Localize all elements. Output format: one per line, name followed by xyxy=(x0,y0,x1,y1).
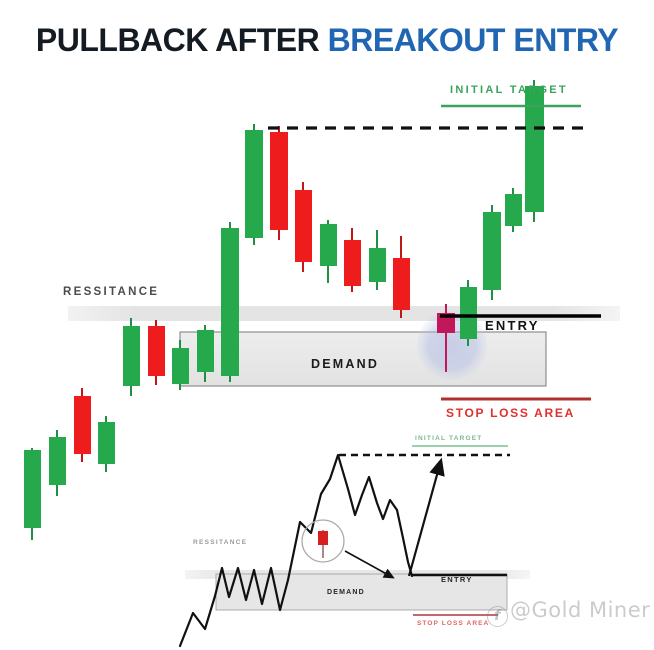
schematic-label-demand: DEMAND xyxy=(327,589,365,596)
infographic-canvas: PULLBACK AFTER BREAKOUT ENTRY xyxy=(0,0,654,650)
schematic-circled-candle-body xyxy=(318,531,328,545)
schematic-label-entry: ENTRY xyxy=(441,575,473,584)
schematic-label-ressitance: RESSITANCE xyxy=(193,539,247,546)
schematic-diagram xyxy=(0,0,654,650)
schematic-label-initial-target: INITIAL TARGET xyxy=(415,435,482,442)
watermark: f@Gold Miner xyxy=(487,598,650,627)
schematic-target-arrow xyxy=(409,464,440,576)
schematic-label-stop-loss-area: STOP LOSS AREA xyxy=(417,620,489,627)
facebook-icon: f xyxy=(487,606,508,627)
schematic-price-path xyxy=(180,455,412,646)
watermark-handle: @Gold Miner xyxy=(510,598,650,622)
